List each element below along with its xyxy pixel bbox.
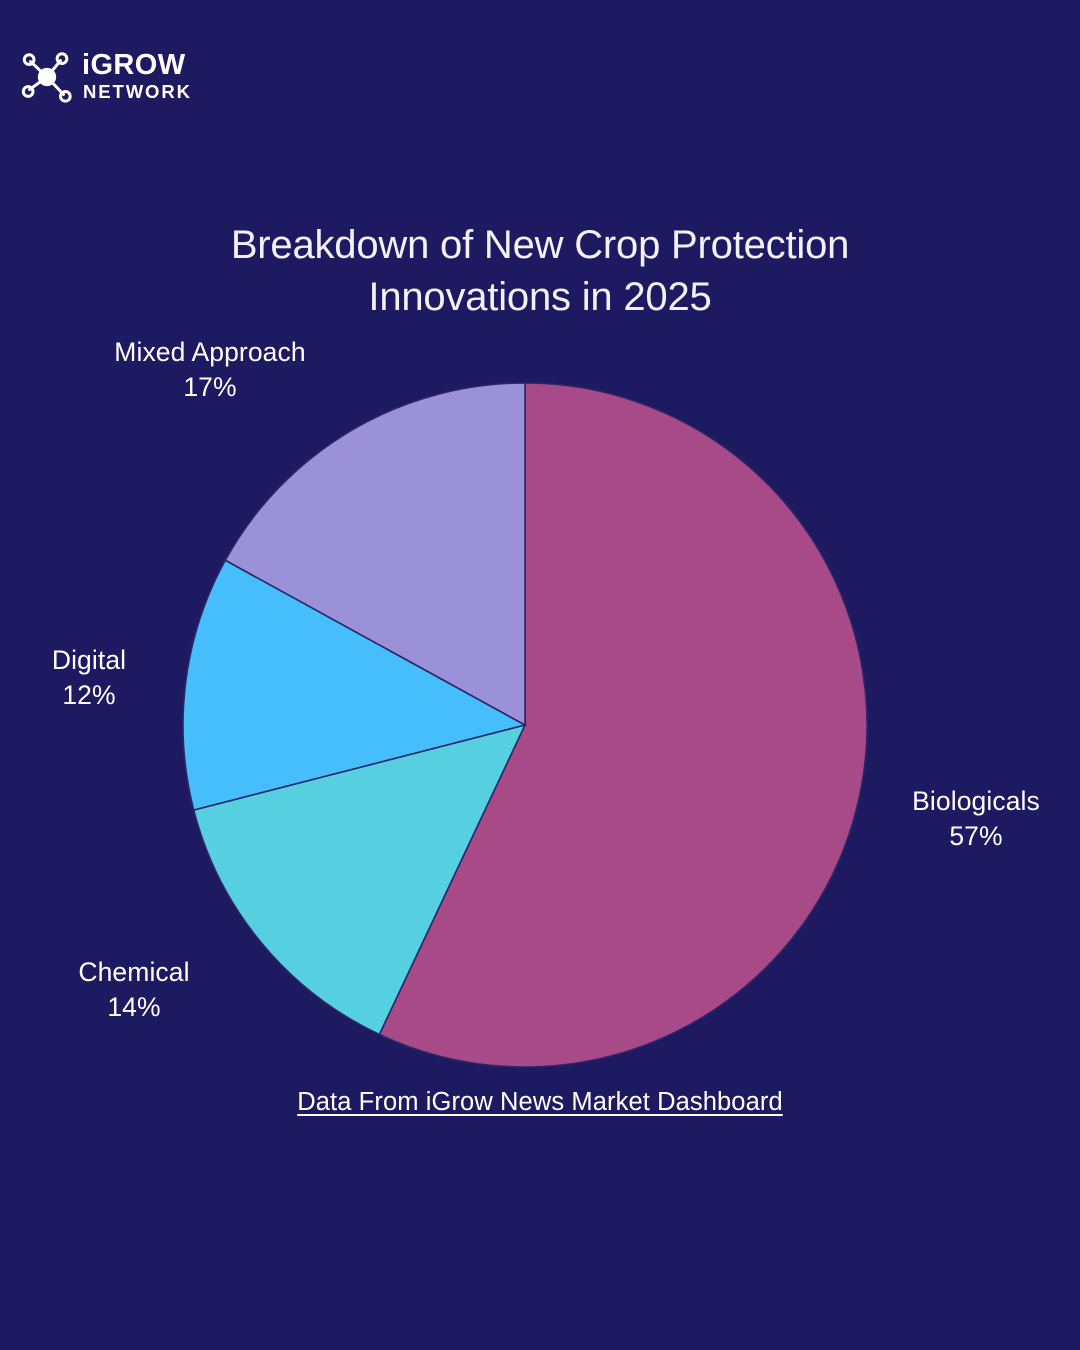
pie-label-digital: Digital 12%	[0, 643, 178, 713]
pie-label-mixed-approach-name: Mixed Approach	[0, 335, 420, 370]
pie-label-digital-value: 12%	[0, 678, 178, 713]
source-note: Data From iGrow News Market Dashboard	[0, 1088, 1080, 1117]
pie-label-chemical-name: Chemical	[0, 955, 268, 990]
pie-label-digital-name: Digital	[0, 643, 178, 678]
pie-label-biologicals-value: 57%	[872, 819, 1080, 854]
pie-label-biologicals-name: Biologicals	[872, 784, 1080, 819]
source-note-link[interactable]: Data From iGrow News Market Dashboard	[297, 1088, 783, 1116]
pie-label-chemical: Chemical 14%	[0, 955, 268, 1025]
pie-label-chemical-value: 14%	[0, 990, 268, 1025]
pie-label-mixed-approach-value: 17%	[0, 370, 420, 405]
pie-slice-group: Biologicals 57%Chemical 14%Digital 12%Mi…	[183, 383, 867, 1067]
pie-label-biologicals: Biologicals 57%	[872, 784, 1080, 854]
pie-label-mixed-approach: Mixed Approach 17%	[0, 335, 420, 405]
